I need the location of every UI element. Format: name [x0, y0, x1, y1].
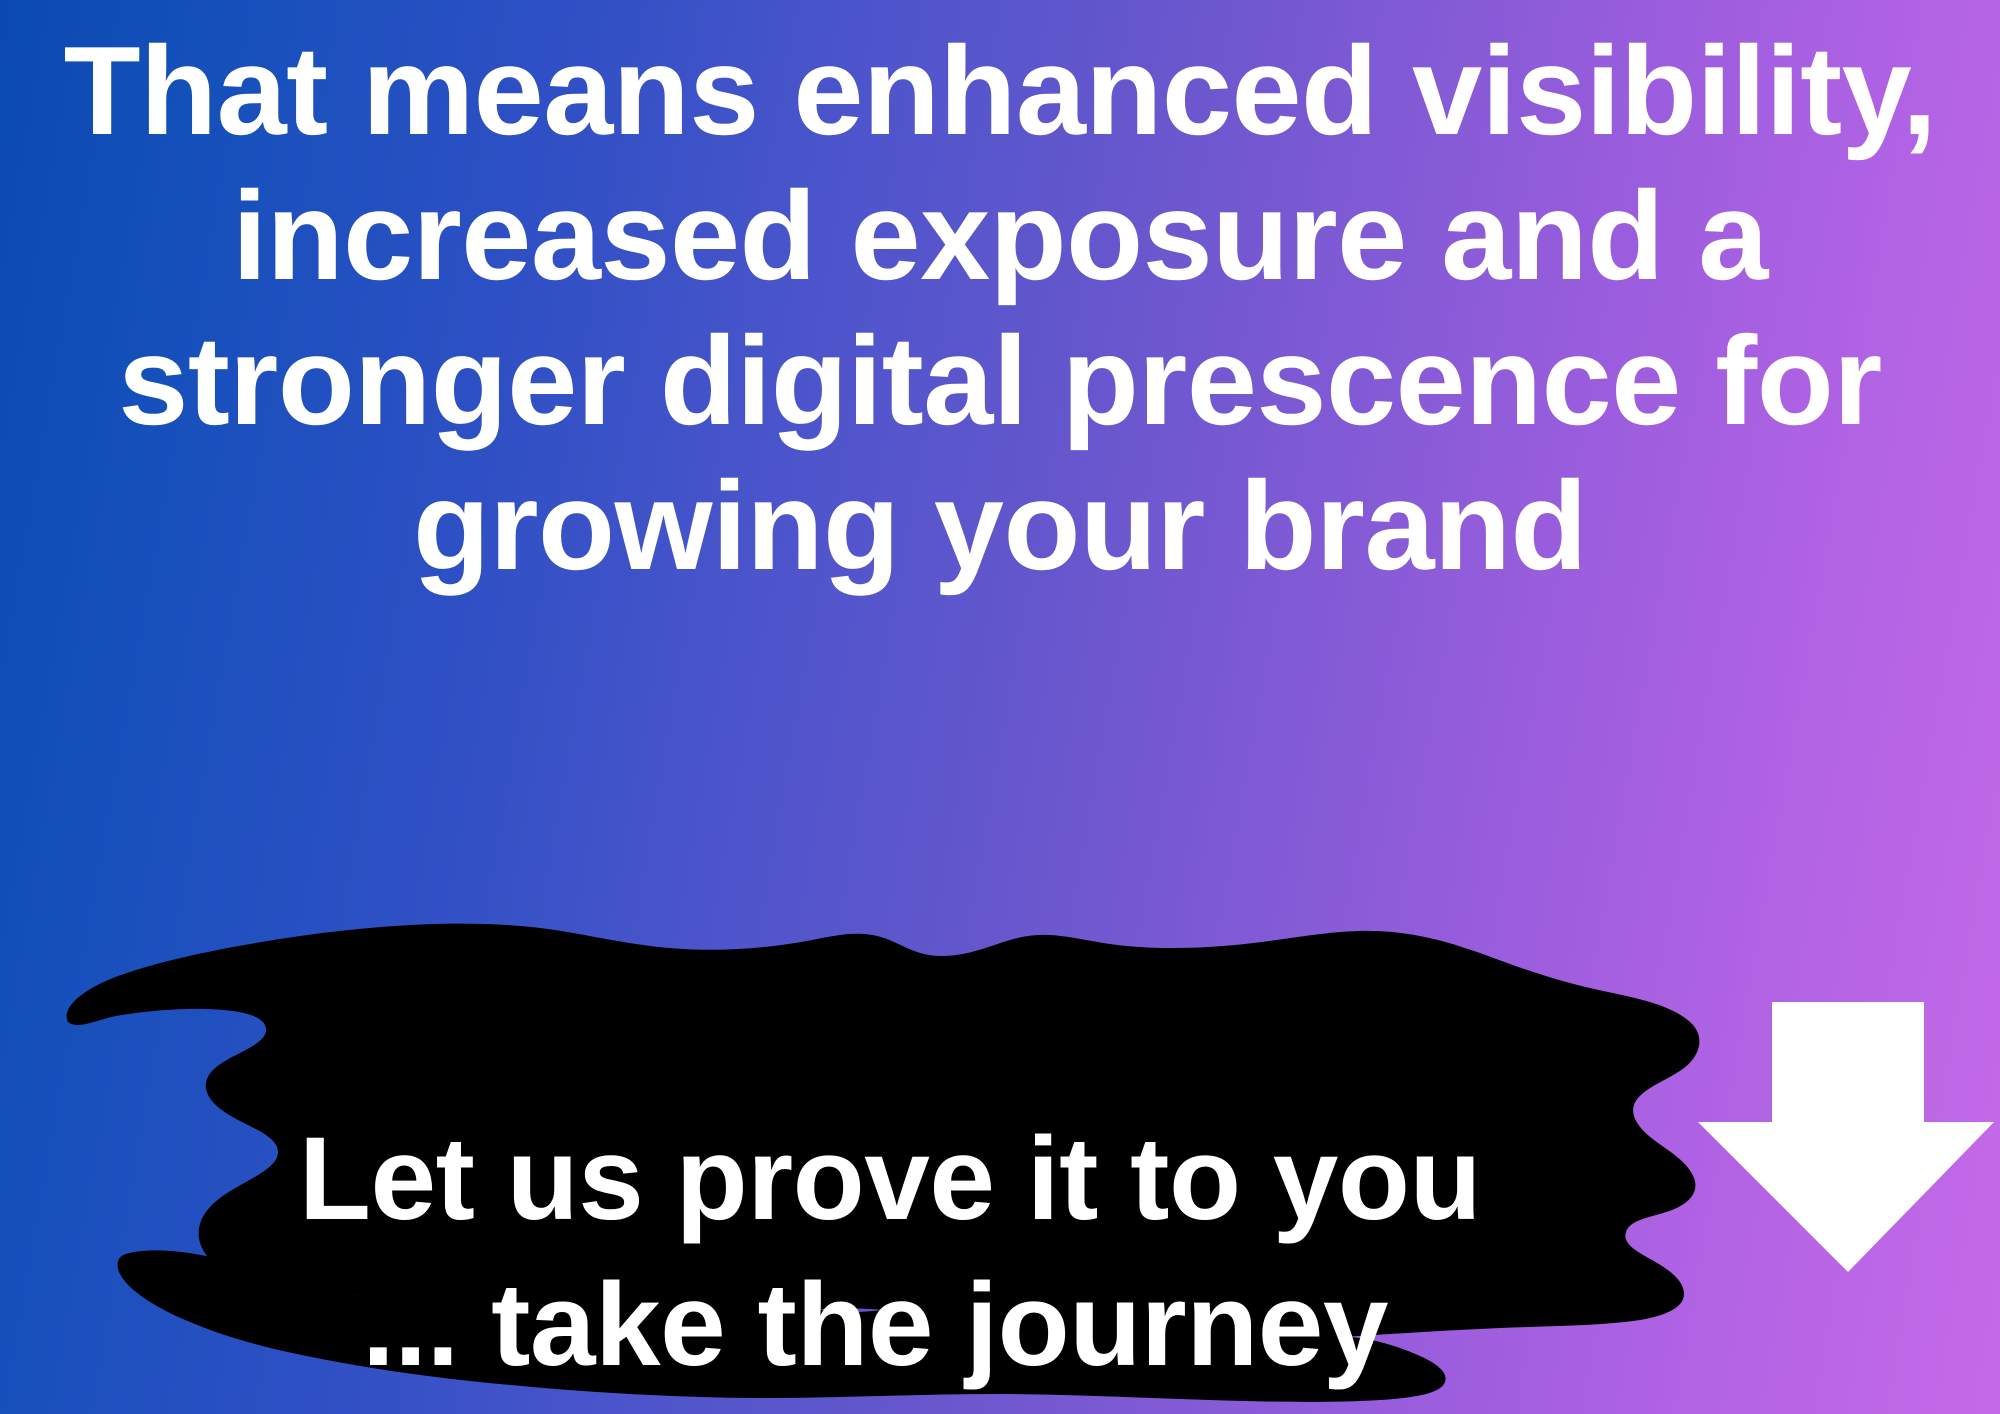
arrow-down-icon[interactable]: [1690, 995, 2000, 1280]
cta-text-block: Let us prove it to you ... take the jour…: [190, 960, 1590, 1414]
cta-line-1: Let us prove it to you: [299, 1113, 1481, 1245]
page-title: That means enhanced visibility, increase…: [0, 18, 2000, 598]
cta-line-2: ... take the journey: [160, 1252, 1590, 1398]
banner-canvas: That means enhanced visibility, increase…: [0, 0, 2000, 1414]
